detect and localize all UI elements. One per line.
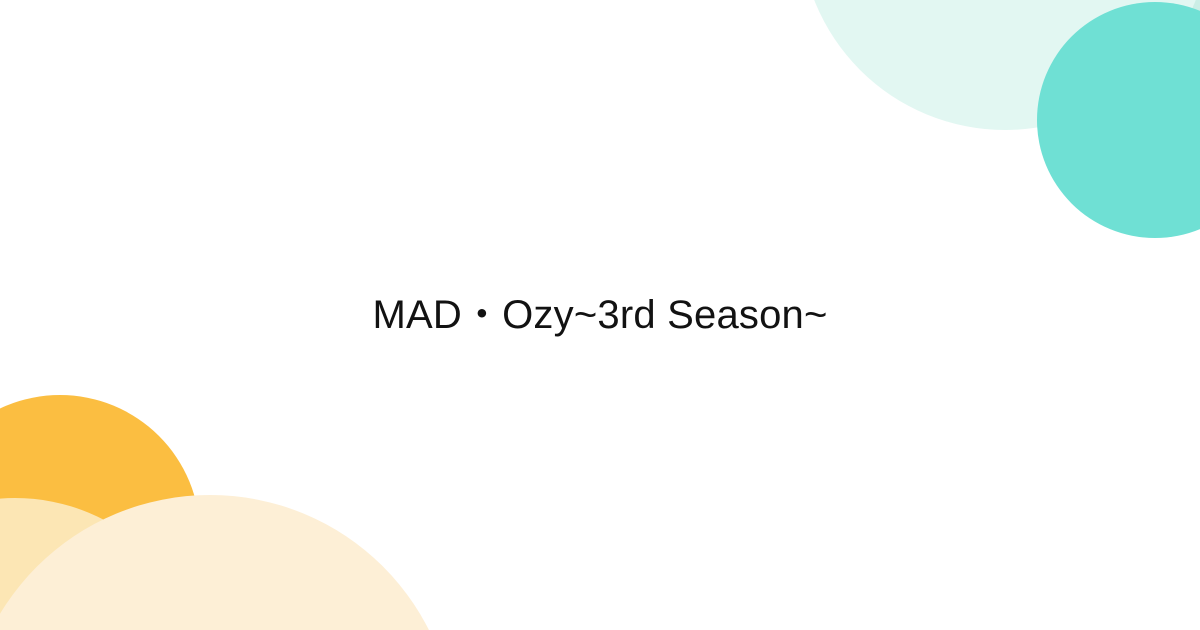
page-title: MAD・Ozy~3rd Season~ — [372, 288, 827, 342]
title-container: MAD・Ozy~3rd Season~ — [0, 0, 1200, 630]
ogp-card: MAD・Ozy~3rd Season~ — [0, 0, 1200, 630]
